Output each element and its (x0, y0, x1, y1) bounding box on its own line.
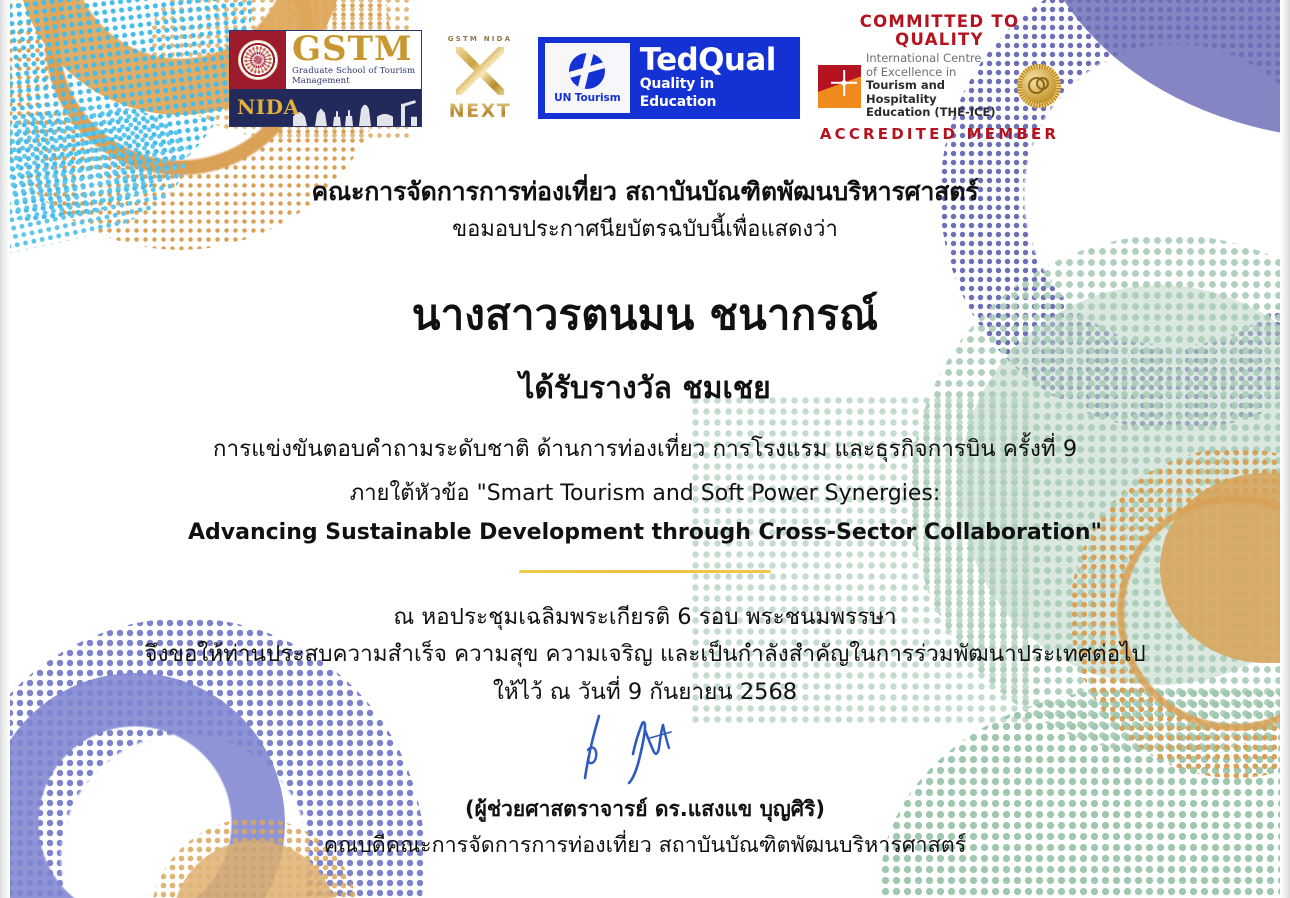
the-ice-top-banner: COMMITTED TO QUALITY (818, 13, 1061, 49)
nida-wordmark: NIDA (230, 95, 300, 119)
logo-strip: GSTM Graduate School of Tourism Manageme… (0, 28, 1290, 128)
theme-line-1: ภายใต้หัวข้อ "Smart Tourism and Soft Pow… (0, 475, 1290, 510)
tedqual-title: TedQual (640, 45, 793, 76)
un-tourism-tedqual-logo: UN Tourism TedQual Quality in Education (538, 37, 800, 119)
competition-title: การแข่งขันตอบคำถามระดับชาติ ด้านการท่องเ… (0, 430, 1290, 466)
prize-line: ได้รับรางวัล ชมเชย (0, 365, 1290, 412)
nida-seal-icon (230, 31, 286, 89)
the-ice-accredited-member-logo: COMMITTED TO QUALITY International Centr… (818, 28, 1061, 128)
theme-line-2: Advancing Sustainable Development throug… (0, 520, 1290, 545)
award-intro-text: ขอมอบประกาศนียบัตรฉบับนี้เพื่อแสดงว่า (0, 211, 1290, 246)
date-issued: ให้ไว้ ณ วันที่ 9 กันยายน 2568 (0, 673, 1290, 709)
issuing-organization: คณะการจัดการการท่องเที่ยว สถาบันบัณฑิตพั… (0, 172, 1290, 212)
un-tourism-globe-icon (569, 53, 605, 89)
handwritten-signature (555, 708, 735, 786)
gstm-subtitle: Graduate School of Tourism Management (292, 66, 421, 86)
the-ice-line-1: International Centre (866, 52, 1012, 66)
well-wishes-line: จึงขอให้ท่านประสบความสำเร็จ ความสุข ความ… (0, 635, 1290, 671)
the-ice-bottom-banner: ACCREDITED MEMBER (818, 125, 1061, 143)
the-ice-starburst-icon (818, 65, 861, 108)
signature-area (0, 708, 1290, 786)
next-eyebrow: GSTM NIDA (448, 35, 512, 43)
landmark-silhouette-icon (289, 89, 421, 126)
gold-medal-icon (1017, 64, 1061, 108)
the-ice-line-4: Education (THE-ICE) (866, 106, 1012, 120)
venue-line: ณ หอประชุมเฉลิมพระเกียรติ 6 รอบ พระชนมพร… (0, 598, 1290, 634)
certificate-page: GSTM Graduate School of Tourism Manageme… (0, 0, 1290, 898)
the-ice-line-2: of Excellence in (866, 66, 1012, 80)
gstm-nida-next-logo: GSTM NIDA NEXT (440, 28, 520, 128)
gstm-nida-logo: GSTM Graduate School of Tourism Manageme… (229, 30, 422, 127)
signer-name: (ผู้ช่วยศาสตราจารย์ ดร.แสงแข บุญศิริ) (0, 793, 1290, 826)
signer-role: คณบดีคณะการจัดการการท่องเที่ยว สถาบันบัณ… (0, 828, 1290, 862)
tedqual-subtitle: Quality in Education (640, 76, 793, 111)
next-x-icon (456, 47, 504, 95)
recipient-name: นางสาวรตนมน ชนากรณ์ (0, 282, 1290, 348)
gstm-title: GSTM (292, 33, 421, 65)
gold-divider (519, 570, 771, 573)
un-tourism-label: UN Tourism (554, 92, 620, 104)
the-ice-line-3: Tourism and Hospitality (866, 79, 1012, 106)
next-wordmark: NEXT (449, 100, 512, 122)
